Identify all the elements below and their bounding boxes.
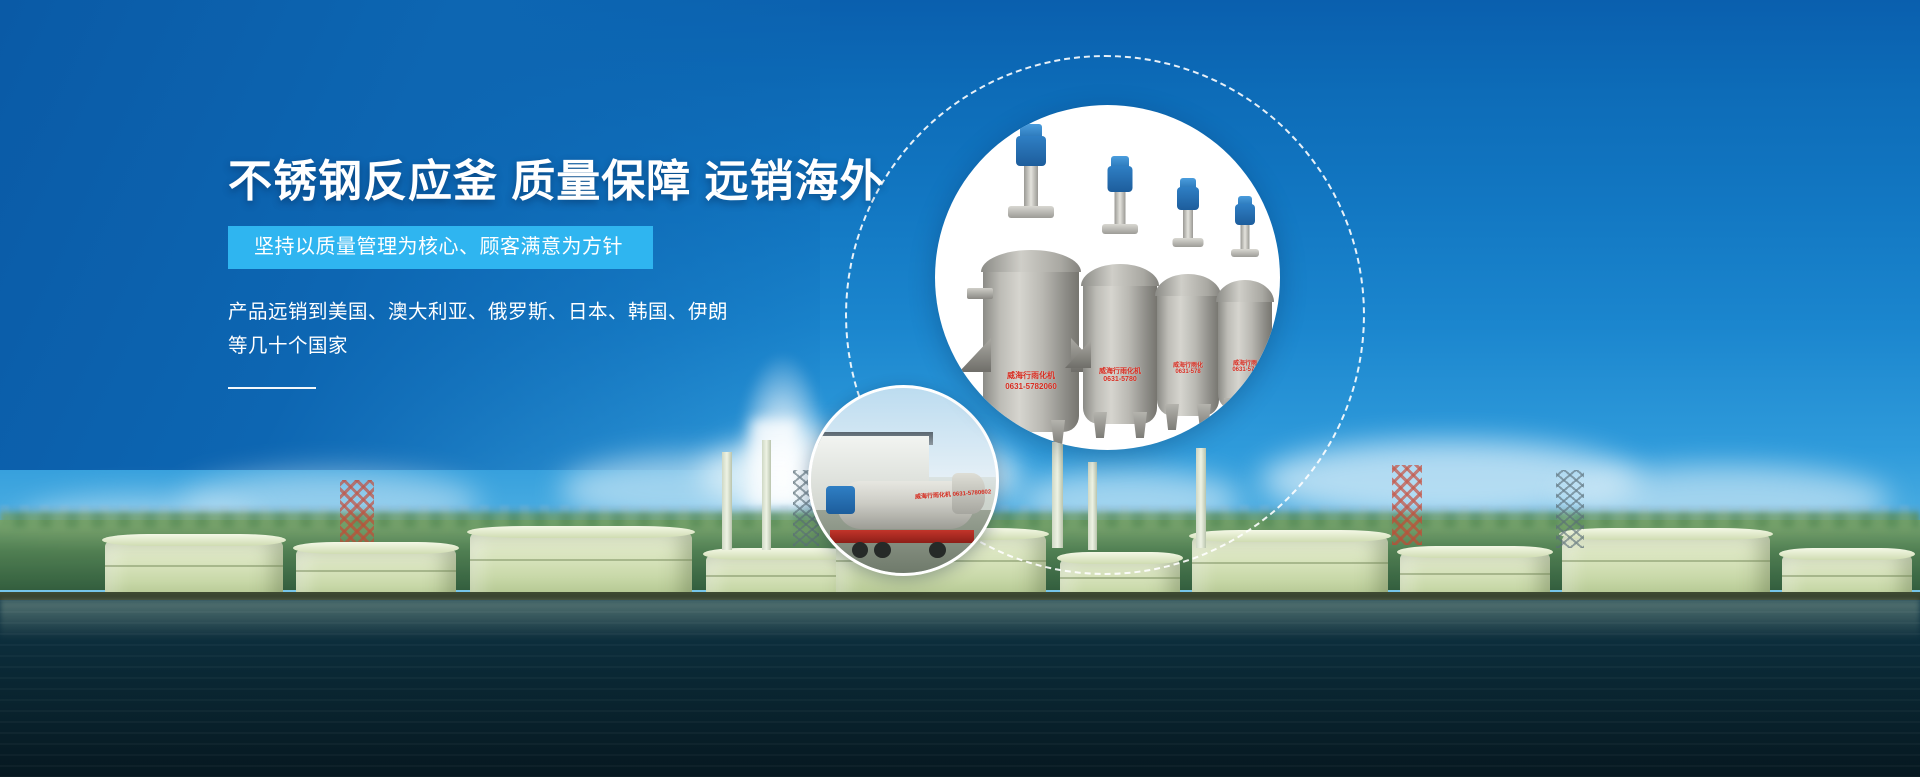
vessel-dome (1081, 264, 1159, 286)
vessel-dome (1155, 274, 1221, 296)
vessel-label-line2: 0631-5782060 (1005, 382, 1057, 391)
vessel-body (1218, 294, 1272, 410)
banner-text-block: 不锈钢反应釜 质量保障 远销海外 坚持以质量管理为核心、顾客满意为方针 产品远销… (228, 160, 968, 389)
lattice-tower (1392, 465, 1422, 545)
inset-motor (826, 486, 856, 514)
vessel-label-line1: 威海行雨化机 (1099, 366, 1141, 376)
agitator-motor (1235, 204, 1255, 225)
vessel-leg (997, 420, 1011, 446)
vessel-label-line2: 0631-578 (1232, 367, 1257, 373)
hero-banner: 威海行雨化机 0631-5780602 威海行雨化机 0631-5782060 (0, 0, 1920, 777)
agitator-motor (1177, 187, 1199, 210)
top-flange (1008, 206, 1054, 218)
banner-paragraph: 产品远销到美国、澳大利亚、俄罗斯、日本、韩国、伊朗 等几十个国家 (228, 295, 748, 363)
paragraph-line-1: 产品远销到美国、澳大利亚、俄罗斯、日本、韩国、伊朗 (228, 295, 748, 329)
vessel-label-line1: 威海行雨化 (1173, 360, 1203, 369)
highlight-bar-text: 坚持以质量管理为核心、顾客满意为方针 (254, 236, 623, 258)
vessel-leg (1133, 412, 1147, 438)
power-pylon (1556, 470, 1584, 548)
reactor-group: 威海行雨化机 0631-5782060 威海行雨化机 0631-5780 (935, 105, 1280, 450)
reactor-vessel: 威海行雨化机 0631-5782060 (983, 242, 1079, 432)
vessel-body (1157, 288, 1219, 416)
chimney-stack (762, 440, 771, 550)
top-flange (1102, 224, 1138, 234)
inset-wheel (929, 542, 946, 559)
vessel-leg (1197, 404, 1211, 430)
vessel-dome (1216, 280, 1274, 302)
vessel-leg (1224, 398, 1238, 424)
vessel-leg (1051, 420, 1065, 446)
highlight-bar: 坚持以质量管理为核心、顾客满意为方针 (228, 226, 653, 269)
product-photo-circle: 威海行雨化机 0631-5782060 威海行雨化机 0631-5780 (935, 105, 1280, 450)
vessel-dome (981, 250, 1081, 272)
side-nozzle (967, 288, 993, 299)
vessel-body (1083, 278, 1157, 424)
inset-wheel (874, 542, 891, 559)
water-body (0, 600, 1920, 777)
vessel-label-line1: 威海行雨 (1233, 358, 1257, 367)
vessel-leg (1093, 412, 1107, 438)
top-flange (1173, 238, 1204, 247)
reactor-vessel: 威海行雨 0631-578 (1218, 274, 1272, 410)
agitator-motor (1016, 136, 1046, 166)
banner-headline: 不锈钢反应釜 质量保障 远销海外 (228, 160, 968, 204)
vessel-label-line1: 威海行雨化机 (1007, 370, 1055, 381)
agitator-shaft (1183, 210, 1193, 240)
lattice-tower (340, 480, 374, 542)
vessel-body (983, 264, 1079, 432)
vessel-label-line2: 0631-578 (1175, 369, 1200, 375)
vessel-label-line2: 0631-5780 (1103, 376, 1136, 383)
divider-rule (228, 387, 316, 389)
vessel-leg (1252, 398, 1266, 424)
chimney-stack (722, 452, 732, 550)
agitator-motor (1108, 166, 1133, 192)
agitator-shaft (1115, 192, 1126, 226)
water-reflection-streaks (0, 600, 1920, 777)
agitator-shaft (1241, 225, 1250, 251)
reactor-vessel: 威海行雨化 0631-578 (1157, 266, 1219, 416)
paragraph-line-2: 等几十个国家 (228, 329, 748, 363)
agitator-shaft (1024, 166, 1038, 208)
vessel-leg (1165, 404, 1179, 430)
top-flange (1231, 249, 1259, 257)
reactor-vessel: 威海行雨化机 0631-5780 (1083, 256, 1157, 424)
inset-trailer-chassis (830, 530, 974, 543)
